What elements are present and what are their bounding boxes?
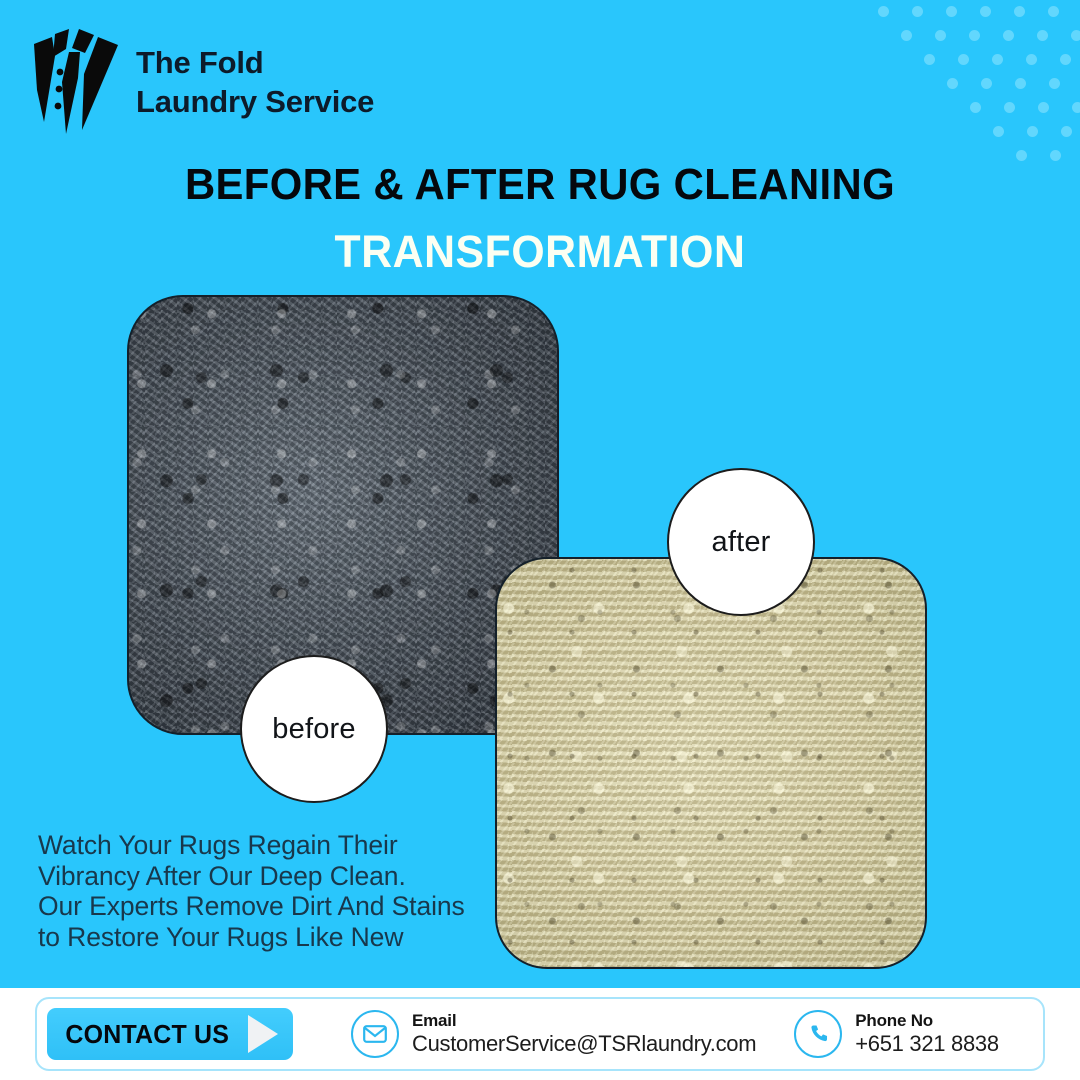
- dot: [924, 54, 935, 65]
- dot: [947, 78, 958, 89]
- body-copy: Watch Your Rugs Regain Their Vibrancy Af…: [38, 830, 508, 953]
- dot: [969, 30, 980, 41]
- dot: [1038, 102, 1049, 113]
- dot: [1048, 6, 1059, 17]
- dot: [958, 54, 969, 65]
- headline-sub: TRANSFORMATION: [27, 226, 1053, 278]
- dot: [992, 54, 1003, 65]
- dot: [901, 30, 912, 41]
- headline-block: BEFORE & AFTER RUG CLEANING TRANSFORMATI…: [0, 160, 1080, 278]
- dot: [1015, 78, 1026, 89]
- dot: [993, 126, 1004, 137]
- phone-label: Phone No: [855, 1011, 999, 1031]
- after-badge-label: after: [711, 526, 770, 559]
- dot: [970, 102, 981, 113]
- dot: [1026, 54, 1037, 65]
- dot-row: [970, 102, 1080, 113]
- dot: [1072, 102, 1080, 113]
- dot: [935, 30, 946, 41]
- play-arrow-icon: [248, 1015, 278, 1053]
- dot-row: [924, 54, 1080, 65]
- dot: [946, 6, 957, 17]
- dot-row: [947, 78, 1080, 89]
- decorative-dot-pattern: [850, 0, 1080, 165]
- phone-handset-icon: [794, 1010, 842, 1058]
- envelope-icon: [351, 1010, 399, 1058]
- footer-bar: CONTACT US Email CustomerService@TSRlaun…: [0, 988, 1080, 1080]
- dot: [981, 78, 992, 89]
- after-rug-image: [495, 557, 927, 969]
- contact-us-button[interactable]: CONTACT US: [47, 1008, 293, 1060]
- dot: [1060, 54, 1071, 65]
- dot: [1004, 102, 1015, 113]
- tuxedo-suit-icon: [22, 26, 126, 138]
- email-value: CustomerService@TSRlaundry.com: [412, 1031, 756, 1057]
- dot: [980, 6, 991, 17]
- before-badge: before: [240, 655, 388, 803]
- email-contact-item[interactable]: Email CustomerService@TSRlaundry.com: [351, 1010, 756, 1058]
- poster-canvas: The Fold Laundry Service BEFORE & AFTER …: [0, 0, 1080, 1080]
- footer-card: CONTACT US Email CustomerService@TSRlaun…: [35, 997, 1045, 1071]
- body-copy-line: Vibrancy After Our Deep Clean.: [38, 861, 508, 892]
- dot: [1037, 30, 1048, 41]
- dot: [1071, 30, 1080, 41]
- email-label: Email: [412, 1011, 756, 1031]
- after-badge: after: [667, 468, 815, 616]
- dot: [1027, 126, 1038, 137]
- dot: [1061, 126, 1072, 137]
- contact-us-label: CONTACT US: [65, 1019, 229, 1050]
- dot-row: [878, 6, 1080, 17]
- phone-value: +651 321 8838: [855, 1031, 999, 1057]
- phone-contact-item[interactable]: Phone No +651 321 8838: [794, 1010, 999, 1058]
- body-copy-line: Our Experts Remove Dirt And Stains: [38, 891, 508, 922]
- logo-line-2: Laundry Service: [136, 82, 374, 121]
- brand-logo: The Fold Laundry Service: [22, 26, 374, 138]
- dot-row: [901, 30, 1080, 41]
- dot: [1003, 30, 1014, 41]
- dot: [1049, 78, 1060, 89]
- before-badge-label: before: [272, 713, 355, 746]
- body-copy-line: to Restore Your Rugs Like New: [38, 922, 508, 953]
- dot: [878, 6, 889, 17]
- dot-row: [993, 126, 1080, 137]
- logo-line-1: The Fold: [136, 43, 374, 82]
- dot: [912, 6, 923, 17]
- headline-main: BEFORE & AFTER RUG CLEANING: [27, 160, 1053, 210]
- body-copy-line: Watch Your Rugs Regain Their: [38, 830, 508, 861]
- dot: [1014, 6, 1025, 17]
